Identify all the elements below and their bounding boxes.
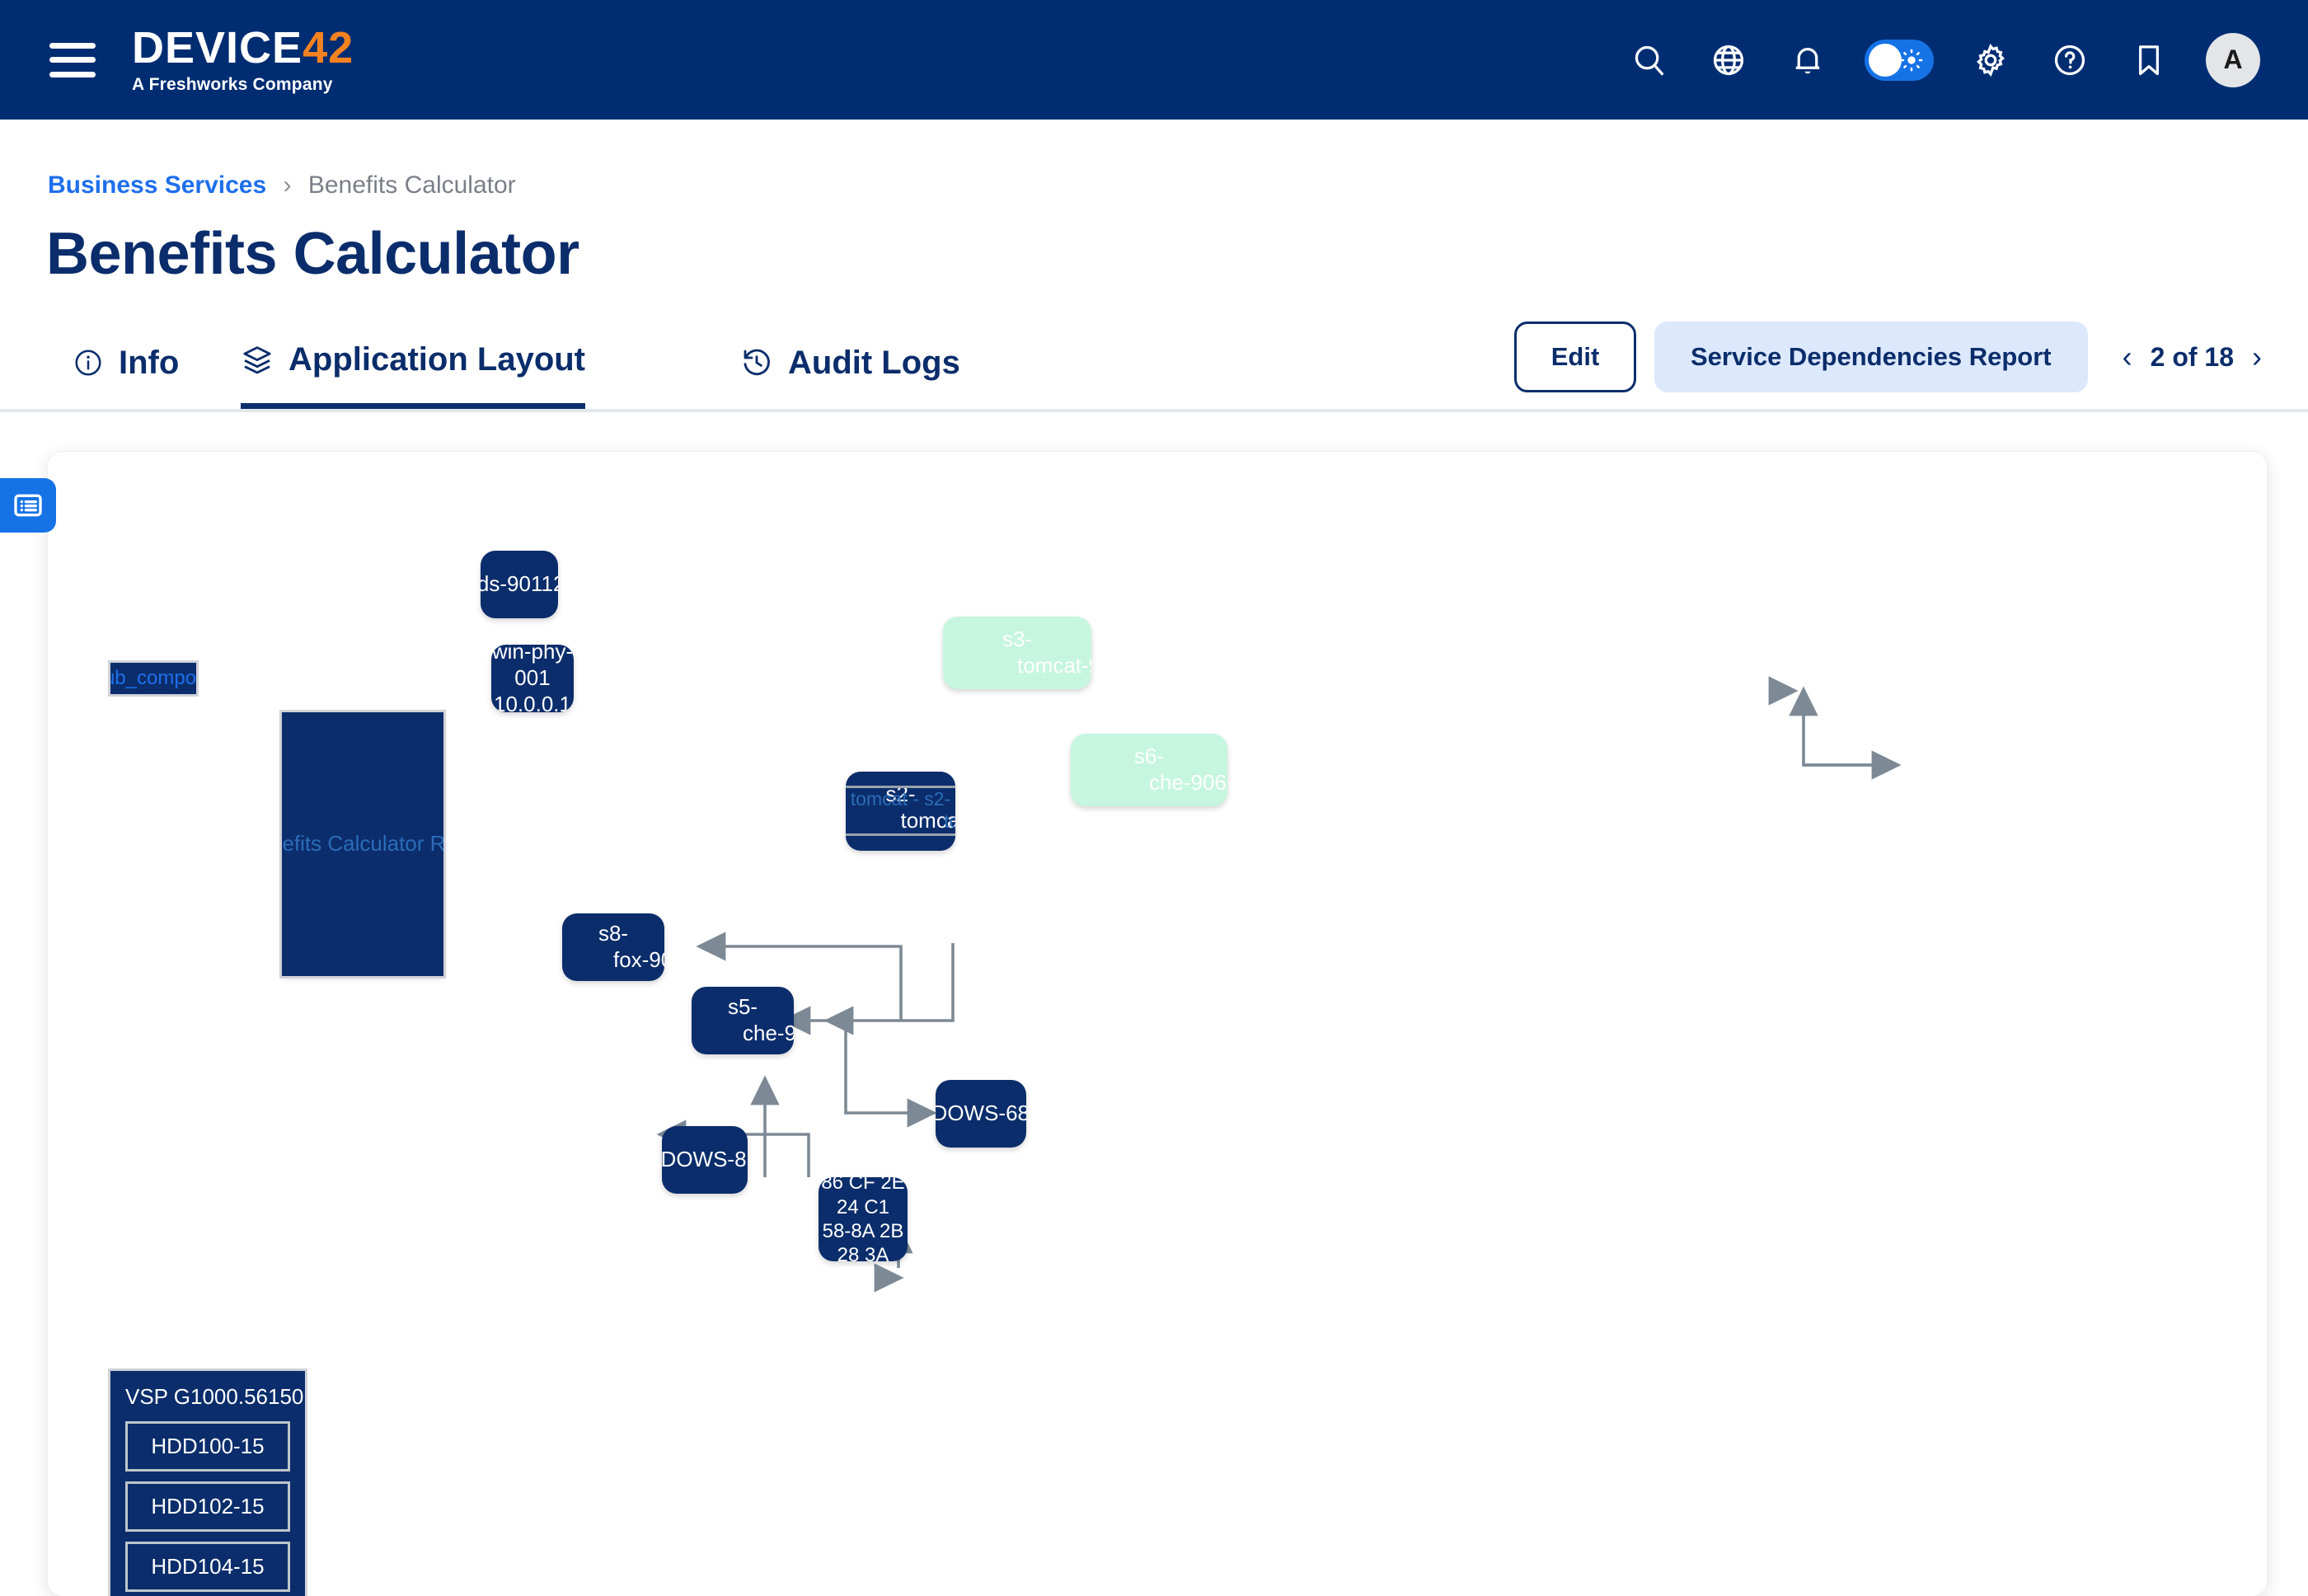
history-clock-icon — [740, 346, 773, 379]
tab-audit-logs[interactable]: Audit Logs — [740, 326, 960, 409]
edge-s6-to-s3 — [1804, 689, 1898, 765]
node-benefits-calculator-repo-label: Benefits Calculator Repo — [282, 831, 443, 857]
node-s6-che-9068-label: s6- che-9068.device42.pvt — [1071, 744, 1227, 796]
node-s3-prefix: s3- — [1002, 627, 1032, 651]
avatar-initial: A — [2223, 45, 2242, 75]
node-s6-fqdn: che-9068.device42.pvt — [1071, 770, 1227, 796]
logo-subtitle: A Freshworks Company — [132, 75, 354, 95]
node-windows-8d4tipt[interactable]: WINDOWS-8D4TIPT — [662, 1126, 748, 1194]
node-wds-901120-label: wds-901120 — [481, 571, 558, 598]
node-windows-68inpg6[interactable]: WINDOWS-68INPG6 — [936, 1080, 1026, 1148]
node-github-component[interactable]: github_component — [110, 663, 196, 694]
theme-toggle[interactable] — [1865, 40, 1934, 81]
node-s2-service-fqdn: tomcat-9063.device42.pvt — [846, 810, 955, 833]
logo-text: DEVICE42 — [132, 26, 354, 70]
node-s3-tomcat-9066-label: s3- tomcat-9066.device42.pvt — [943, 627, 1091, 678]
edge-s5-to-win68 — [846, 1021, 934, 1113]
node-s3-fqdn: tomcat-9066.device42.pvt — [943, 653, 1091, 679]
search-icon[interactable] — [1627, 38, 1672, 82]
tab-info[interactable]: Info — [73, 326, 179, 409]
tab-audit-logs-label: Audit Logs — [788, 345, 960, 382]
tab-bar: Info Application Layout Audit Logs — [0, 330, 2308, 412]
application-layout-canvas-card: github_component Benefits Calculator Rep… — [48, 452, 2267, 1596]
top-navigation-bar: DEVICE42 A Freshworks Company — [0, 0, 2308, 120]
group-item-hdd102-15[interactable]: HDD102-15 — [125, 1481, 290, 1532]
sun-icon — [1900, 49, 1923, 72]
node-win-phy-001[interactable]: win-phy-001 10.0.0.1 — [491, 645, 574, 712]
node-s8-fqdn: fox-9065.device42.pvt — [562, 947, 664, 974]
node-windows-8d4tipt-label: WINDOWS-8D4TIPT — [662, 1147, 748, 1173]
node-s2-tomcat-service-label: tomcat - s2- tomcat-9063.device42.pvt — [846, 788, 955, 833]
top-nav-icon-group: A — [1627, 33, 2260, 87]
node-win-phy-001-hostname: win-phy-001 — [492, 645, 573, 690]
node-windows-68inpg6-label: WINDOWS-68INPG6 — [936, 1101, 1026, 1127]
node-s5-fqdn: che-9064.device42.pvt — [692, 1021, 794, 1047]
node-s3-tomcat-9066[interactable]: s3- tomcat-9066.device42.pvt — [943, 617, 1091, 689]
tab-info-label: Info — [119, 345, 179, 382]
group-vsp-g1000-title: VSP G1000.56150 — [125, 1379, 290, 1411]
node-s2-tomcat-9063[interactable]: s2- tomcat-9063.device42.pvt tomcat - s2… — [846, 772, 955, 851]
node-vmware-56[interactable]: VMWARE-56 4D 86 CF 2E 24 C1 58-8A 2B 28 … — [819, 1177, 908, 1261]
node-s2-service-name: tomcat - s2- — [851, 788, 950, 810]
info-circle-icon — [73, 347, 104, 378]
device42-logo[interactable]: DEVICE42 A Freshworks Company — [132, 26, 354, 95]
node-s6-prefix: s6- — [1134, 744, 1164, 768]
diagram-edges — [48, 452, 2267, 1596]
node-vmware-line2: 86 CF 2E 24 C1 — [821, 1177, 904, 1218]
node-github-component-label: github_component — [110, 666, 196, 690]
layers-icon — [241, 344, 274, 377]
avatar[interactable]: A — [2206, 33, 2260, 87]
theme-toggle-knob — [1869, 44, 1902, 77]
node-vmware-56-label: VMWARE-56 4D 86 CF 2E 24 C1 58-8A 2B 28 … — [819, 1177, 908, 1261]
node-vmware-line3: 58-8A 2B 28 3A — [823, 1220, 904, 1261]
gear-icon[interactable] — [1968, 38, 2013, 82]
node-s6-che-9068[interactable]: s6- che-9068.device42.pvt — [1071, 734, 1227, 806]
help-icon[interactable] — [2048, 38, 2092, 82]
group-item-hdd104-15[interactable]: HDD104-15 — [125, 1542, 290, 1592]
bookmark-icon[interactable] — [2127, 38, 2171, 82]
breadcrumb-current: Benefits Calculator — [308, 171, 516, 199]
breadcrumb-parent-link[interactable]: Business Services — [48, 171, 266, 199]
legend-panel-toggle-button[interactable] — [0, 478, 56, 533]
bell-icon[interactable] — [1785, 38, 1830, 82]
node-benefits-calculator-repo[interactable]: Benefits Calculator Repo — [282, 712, 443, 976]
node-s8-fox-9065-label: s8- fox-9065.device42.pvt — [562, 921, 664, 973]
logo-main-text: DEVICE — [132, 26, 303, 70]
edge-tomcat-into-s5 — [784, 943, 953, 1021]
node-s2-tomcat-service-chip[interactable]: tomcat - s2- tomcat-9063.device42.pvt — [846, 786, 955, 836]
breadcrumb-separator: › — [284, 171, 292, 199]
node-s8-prefix: s8- — [598, 921, 628, 946]
page-title: Benefits Calculator — [46, 220, 579, 288]
globe-icon[interactable] — [1706, 38, 1751, 82]
list-panel-icon — [12, 489, 45, 522]
node-s5-che-9064[interactable]: s5- che-9064.device42.pvt — [692, 987, 794, 1054]
node-wds-901120[interactable]: wds-901120 — [481, 551, 558, 618]
hamburger-menu-icon[interactable] — [49, 43, 96, 77]
node-s5-che-9064-label: s5- che-9064.device42.pvt — [692, 994, 794, 1046]
edge-right-into-s5 — [827, 943, 953, 1021]
group-item-hdd100-15[interactable]: HDD100-15 — [125, 1421, 290, 1472]
breadcrumb: Business Services › Benefits Calculator — [48, 173, 516, 198]
tab-application-layout-label: Application Layout — [288, 341, 585, 378]
group-vsp-g1000[interactable]: VSP G1000.56150 HDD100-15 HDD102-15 HDD1… — [110, 1371, 305, 1596]
node-s5-prefix: s5- — [728, 994, 758, 1019]
diagram-canvas[interactable]: github_component Benefits Calculator Rep… — [48, 452, 2267, 1596]
node-win-phy-001-label: win-phy-001 10.0.0.1 — [491, 645, 574, 712]
tab-application-layout[interactable]: Application Layout — [241, 326, 585, 409]
logo-accent-text: 42 — [303, 26, 354, 70]
node-win-phy-001-ip: 10.0.0.1 — [494, 692, 571, 712]
node-s8-fox-9065[interactable]: s8- fox-9065.device42.pvt — [562, 913, 664, 981]
